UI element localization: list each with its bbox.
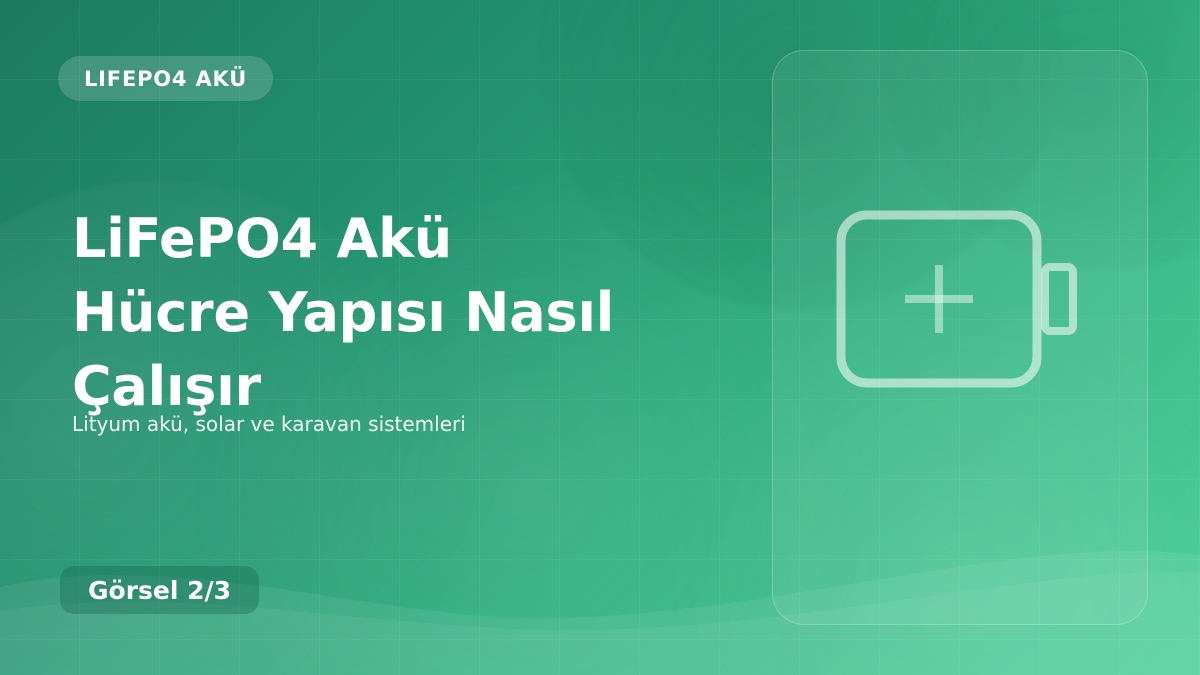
battery-plus-symbol xyxy=(905,265,973,333)
content-column: LIFEPO4 AKÜ LiFePO4 Akü Hücre Yapısı Nas… xyxy=(72,0,712,675)
slide-counter-badge[interactable]: Görsel 2/3 xyxy=(60,566,259,614)
page-title: LiFePO4 Akü Hücre Yapısı Nasıl Çalışır xyxy=(72,202,732,424)
battery-terminal-nub xyxy=(1045,267,1073,331)
title-line-1: LiFePO4 Akü xyxy=(72,202,732,276)
title-line-2: Hücre Yapısı Nasıl xyxy=(72,276,732,350)
category-badge[interactable]: LIFEPO4 AKÜ xyxy=(58,56,273,101)
page-subtitle: Lityum akü, solar ve karavan sistemleri xyxy=(72,410,466,438)
slide-canvas: LIFEPO4 AKÜ LiFePO4 Akü Hücre Yapısı Nas… xyxy=(0,0,1200,675)
battery-plus-icon xyxy=(835,209,1085,389)
illustration-card xyxy=(772,50,1148,625)
